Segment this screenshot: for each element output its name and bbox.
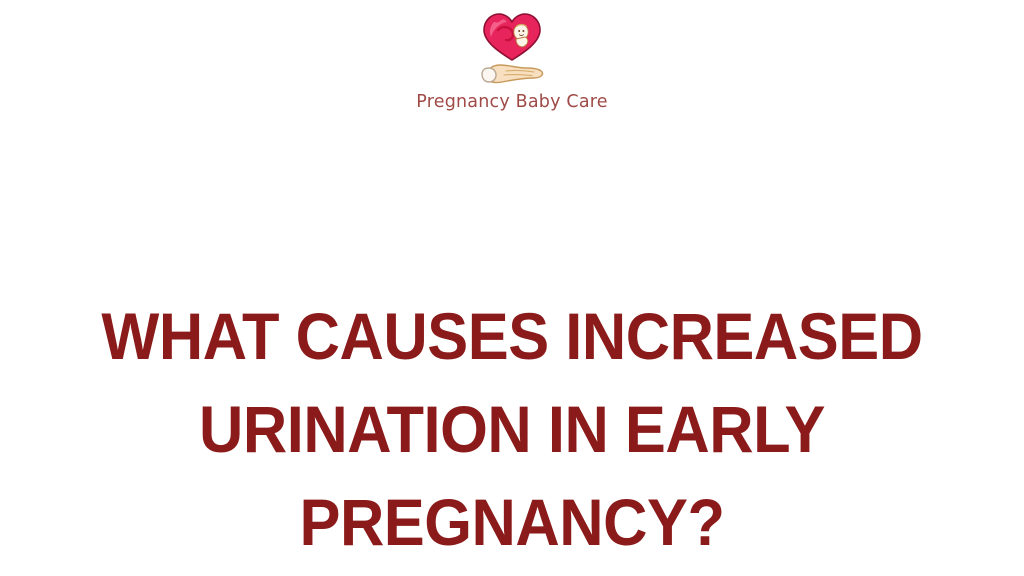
site-logo[interactable]: Pregnancy Baby Care	[0, 10, 1024, 112]
page-title-line-1: WHAT CAUSES INCREASED	[36, 290, 988, 383]
page-title-line-3: PREGNANCY?	[36, 476, 988, 569]
page-title-line-2: URINATION IN EARLY	[36, 383, 988, 476]
page-title: WHAT CAUSES INCREASED URINATION IN EARLY…	[36, 290, 988, 569]
brand-name: Pregnancy Baby Care	[416, 92, 607, 112]
heart-with-baby-in-hand-icon	[476, 10, 548, 90]
